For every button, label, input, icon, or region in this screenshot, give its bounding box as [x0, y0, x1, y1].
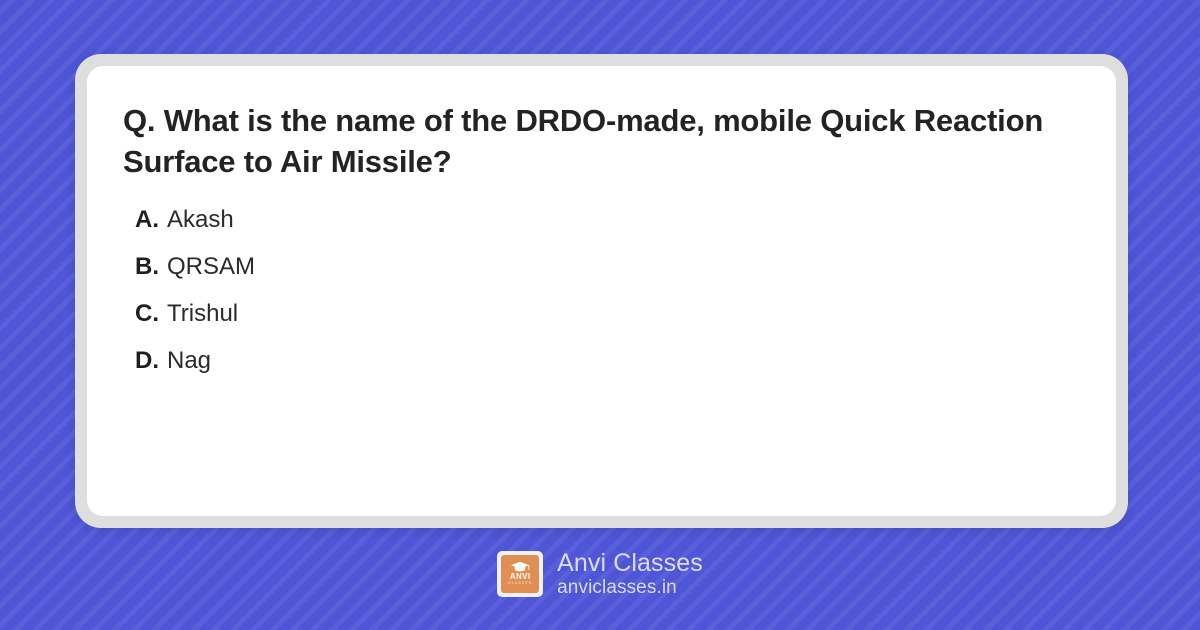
- option-letter-a: A.: [135, 208, 159, 232]
- brand-text: Anvi Classes anviclasses.in: [557, 549, 703, 598]
- footer-branding: ANVI CLASSES Anvi Classes anviclasses.in: [0, 549, 1200, 598]
- graduation-cap-icon: [510, 561, 530, 572]
- brand-logo: ANVI CLASSES: [497, 551, 543, 597]
- quiz-card-inner: Q. What is the name of the DRDO-made, mo…: [87, 66, 1116, 516]
- option-row-a[interactable]: A. Akash: [123, 208, 1080, 232]
- option-label-d: Nag: [167, 349, 211, 373]
- option-letter-c: C.: [135, 302, 159, 326]
- brand-logo-subtitle: CLASSES: [508, 582, 532, 586]
- option-row-c[interactable]: C. Trishul: [123, 302, 1080, 326]
- option-letter-d: D.: [135, 349, 159, 373]
- option-row-d[interactable]: D. Nag: [123, 349, 1080, 373]
- options-list: A. Akash B. QRSAM C. Trishul D. Nag: [123, 208, 1080, 373]
- quiz-card: Q. What is the name of the DRDO-made, mo…: [75, 54, 1128, 528]
- brand-logo-name: ANVI: [510, 573, 531, 581]
- option-label-a: Akash: [167, 208, 234, 232]
- brand-url[interactable]: anviclasses.in: [557, 577, 703, 598]
- brand-logo-mark: ANVI CLASSES: [501, 555, 539, 593]
- question-text: Q. What is the name of the DRDO-made, mo…: [123, 100, 1080, 182]
- option-label-b: QRSAM: [167, 255, 255, 279]
- option-letter-b: B.: [135, 255, 159, 279]
- option-row-b[interactable]: B. QRSAM: [123, 255, 1080, 279]
- option-label-c: Trishul: [167, 302, 238, 326]
- brand-title: Anvi Classes: [557, 549, 703, 577]
